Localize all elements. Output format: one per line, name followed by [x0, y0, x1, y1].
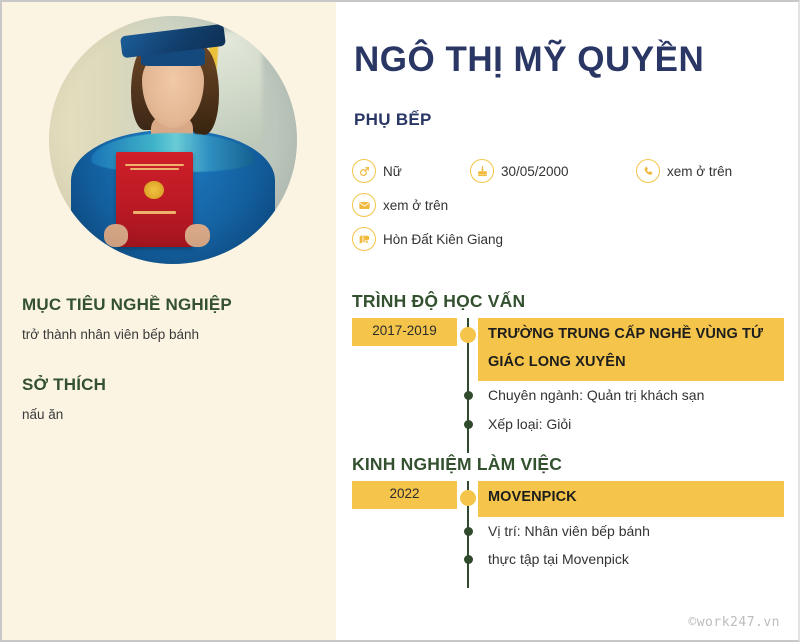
contact-row: Nữ 30/05/2000 — [352, 154, 782, 188]
section-career-objective: MỤC TIÊU NGHỀ NGHIỆP trở thành nhân viên… — [22, 295, 322, 345]
gender-icon — [352, 159, 376, 183]
phone-icon — [636, 159, 660, 183]
section-hobbies: SỞ THÍCH nấu ăn — [22, 375, 322, 425]
contact-row: xem ở trên — [352, 188, 782, 222]
experience-detail-body: Vị trí: Nhân viên bếp bánh — [478, 517, 784, 546]
career-objective-title: MỤC TIÊU NGHỀ NGHIỆP — [22, 295, 322, 315]
timeline-marker — [457, 481, 478, 517]
spacer — [352, 439, 457, 453]
education-detail-row: Chuyên ngành: Quản trị khách sạn — [352, 381, 784, 410]
timeline-tail — [352, 574, 784, 588]
education-heading: TRÌNH ĐỘ HỌC VẤN — [352, 291, 525, 312]
education-date-col: 2017-2019 — [352, 318, 457, 381]
timeline-dot — [464, 527, 473, 536]
timeline-marker — [457, 574, 478, 588]
watermark: ©work247.vn — [688, 615, 780, 630]
timeline-dot-primary — [460, 490, 476, 506]
phone-value: xem ở trên — [667, 164, 732, 179]
experience-timeline: 2022 MOVENPICK Vị trí: Nhân viên bếp bán — [352, 481, 784, 588]
spacer — [352, 517, 457, 546]
education-detail-row: Xếp loại: Giỏi — [352, 410, 784, 439]
experience-date-badge: 2022 — [352, 481, 457, 509]
location-pin-icon — [352, 227, 376, 251]
education-organization: TRƯỜNG TRUNG CẤP NGHỀ VÙNG TỨ GIÁC LONG … — [478, 318, 784, 381]
experience-heading: KINH NGHIỆM LÀM VIỆC — [352, 454, 562, 475]
avatar — [49, 16, 297, 264]
education-date-badge: 2017-2019 — [352, 318, 457, 346]
photo-vignette — [49, 16, 297, 264]
hobbies-text: nấu ăn — [22, 406, 322, 425]
contact-phone[interactable]: xem ở trên — [636, 159, 732, 183]
spacer — [352, 574, 457, 588]
timeline-tail — [352, 439, 784, 453]
contact-address: Hòn Đất Kiên Giang — [352, 227, 503, 251]
experience-detail: thực tập tại Movenpick — [478, 545, 784, 574]
experience-organization: MOVENPICK — [478, 481, 784, 517]
contact-gender: Nữ — [352, 159, 464, 183]
timeline-dot — [464, 391, 473, 400]
timeline-marker — [457, 381, 478, 410]
job-title: PHỤ BẾP — [354, 110, 432, 130]
timeline-marker — [457, 318, 478, 381]
address-value: Hòn Đất Kiên Giang — [383, 232, 503, 247]
contact-email[interactable]: xem ở trên — [352, 193, 448, 217]
hobbies-title: SỞ THÍCH — [22, 375, 322, 395]
timeline-dot-primary — [460, 327, 476, 343]
experience-date-col: 2022 — [352, 481, 457, 517]
education-entry: 2017-2019 TRƯỜNG TRUNG CẤP NGHỀ VÙNG TỨ … — [352, 318, 784, 381]
envelope-icon — [352, 193, 376, 217]
birthday-cake-icon — [470, 159, 494, 183]
contact-dob: 30/05/2000 — [470, 159, 630, 183]
education-body: TRƯỜNG TRUNG CẤP NGHỀ VÙNG TỨ GIÁC LONG … — [478, 318, 784, 381]
education-detail-body: Xếp loại: Giỏi — [478, 410, 784, 439]
timeline-dot — [464, 555, 473, 564]
education-detail: Xếp loại: Giỏi — [478, 410, 784, 439]
education-detail-body: Chuyên ngành: Quản trị khách sạn — [478, 381, 784, 410]
experience-body: MOVENPICK — [478, 481, 784, 517]
sidebar: MỤC TIÊU NGHỀ NGHIỆP trở thành nhân viên… — [2, 2, 336, 640]
cv-page: MỤC TIÊU NGHỀ NGHIỆP trở thành nhân viên… — [0, 0, 800, 642]
dob-value: 30/05/2000 — [501, 164, 569, 179]
career-objective-text: trở thành nhân viên bếp bánh — [22, 326, 322, 345]
timeline-marker — [457, 517, 478, 546]
experience-detail-body: thực tập tại Movenpick — [478, 545, 784, 574]
main-panel: NGÔ THỊ MỸ QUYỀN PHỤ BẾP Nữ — [336, 2, 798, 640]
spacer — [478, 574, 784, 588]
timeline-line — [467, 439, 469, 453]
email-value: xem ở trên — [383, 198, 448, 213]
timeline-marker — [457, 410, 478, 439]
timeline-marker — [457, 545, 478, 574]
gender-value: Nữ — [383, 164, 402, 179]
spacer — [478, 439, 784, 453]
contact-row: Hòn Đất Kiên Giang — [352, 222, 782, 256]
spacer — [352, 381, 457, 410]
avatar-photo — [49, 16, 297, 264]
education-timeline: 2017-2019 TRƯỜNG TRUNG CẤP NGHỀ VÙNG TỨ … — [352, 318, 784, 453]
experience-entry: 2022 MOVENPICK — [352, 481, 784, 517]
contact-info: Nữ 30/05/2000 — [352, 154, 782, 256]
spacer — [352, 410, 457, 439]
education-detail: Chuyên ngành: Quản trị khách sạn — [478, 381, 784, 410]
experience-detail-row: Vị trí: Nhân viên bếp bánh — [352, 517, 784, 546]
experience-detail-row: thực tập tại Movenpick — [352, 545, 784, 574]
page-title: NGÔ THỊ MỸ QUYỀN — [354, 42, 704, 79]
experience-detail: Vị trí: Nhân viên bếp bánh — [478, 517, 784, 546]
timeline-dot — [464, 420, 473, 429]
timeline-line — [467, 574, 469, 588]
spacer — [352, 545, 457, 574]
timeline-marker — [457, 439, 478, 453]
